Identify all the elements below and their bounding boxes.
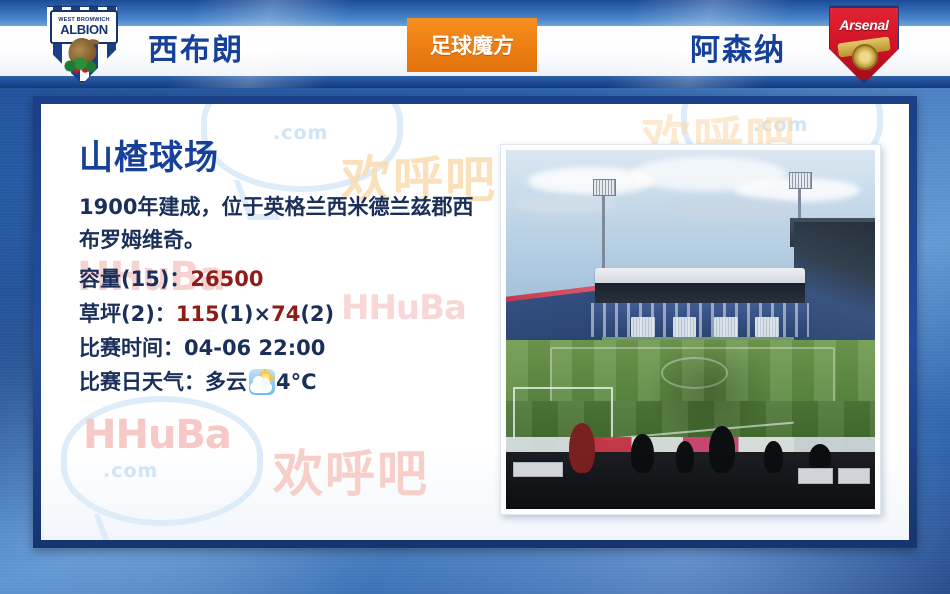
stadium-photo xyxy=(506,150,875,509)
west-bromwich-albion-crest[interactable]: WEST BROMWICH ALBION xyxy=(44,4,126,86)
watermark-brand: HHuBa xyxy=(83,412,231,458)
seat-letter xyxy=(755,317,779,337)
weather-value: 多云 xyxy=(205,365,247,399)
spectator-silhouette xyxy=(631,434,653,473)
match-time-row: 比赛时间： 04-06 22:00 xyxy=(79,331,499,365)
ad-board xyxy=(798,468,833,484)
pitch-size-separator: × xyxy=(253,297,271,331)
spectator-silhouette xyxy=(709,426,735,473)
partly-cloudy-icon xyxy=(249,369,275,395)
seat-letter xyxy=(631,317,655,337)
venue-title: 山楂球场 xyxy=(79,140,499,177)
weather-row: 比赛日天气： 多云 4°C xyxy=(79,365,499,399)
spectator-silhouette xyxy=(676,441,694,473)
pitch-length-rank: (1) xyxy=(220,297,254,331)
cloud-icon xyxy=(250,382,272,393)
temperature-value: 4°C xyxy=(276,365,317,399)
watermark-cn-text: 欢呼吧 xyxy=(273,434,429,506)
ad-board xyxy=(838,468,870,484)
seat-lettering xyxy=(631,317,779,337)
floodlight-head xyxy=(789,172,812,189)
ad-board xyxy=(513,462,563,477)
capacity-value: 26500 xyxy=(190,262,263,296)
floodlight-head xyxy=(593,179,616,196)
main-stand-shade xyxy=(595,283,805,305)
match-time-label: 比赛时间： xyxy=(79,331,184,365)
venue-info-panel: 山楂球场 1900年建成，位于英格兰西米德兰兹郡西布罗姆维奇。 容量(15)： … xyxy=(79,140,499,399)
match-info-stage: WEST BROMWICH ALBION 西布朗 足球魔方 阿森纳 Arsena… xyxy=(0,0,950,594)
watermark-domain: .com xyxy=(103,460,158,482)
spectator-silhouette xyxy=(764,441,782,473)
content-card: .com .com 欢呼吧 HHuBa HHuBa .com HHuBa 欢呼吧… xyxy=(41,104,909,540)
content-card-frame: .com .com 欢呼吧 HHuBa HHuBa .com HHuBa 欢呼吧… xyxy=(33,96,917,548)
crest-word-text: Arsenal xyxy=(826,17,902,33)
pitch-width-rank: (2) xyxy=(300,297,334,331)
watermark-domain: .com xyxy=(753,114,808,136)
site-logo-text: 足球魔方 xyxy=(430,30,514,60)
venue-description: 1900年建成，位于英格兰西米德兰兹郡西布罗姆维奇。 xyxy=(79,191,474,256)
match-time-value: 04-06 22:00 xyxy=(184,331,325,365)
match-header: WEST BROMWICH ALBION 西布朗 足球魔方 阿森纳 Arsena… xyxy=(0,0,950,88)
seat-letter xyxy=(714,317,738,337)
home-team-name: 西布朗 xyxy=(148,26,244,76)
pitch-length-value: 115 xyxy=(176,297,220,331)
arsenal-crest[interactable]: Arsenal xyxy=(826,4,908,86)
crest-main-text: ALBION xyxy=(60,23,107,36)
hawthorn-branch-icon xyxy=(62,58,102,74)
seat-letter xyxy=(673,317,697,337)
weather-label: 比赛日天气： xyxy=(79,365,205,399)
capacity-row: 容量(15)： 26500 xyxy=(79,262,499,296)
away-team-name: 阿森纳 xyxy=(690,26,786,76)
floodlight-pylon xyxy=(602,193,605,276)
pitch-size-row: 草坪(2)： 115 (1) × 74 (2) xyxy=(79,297,499,331)
pitch-label: 草坪(2)： xyxy=(79,297,176,331)
goal-frame xyxy=(513,387,613,439)
capacity-label: 容量(15)： xyxy=(79,262,190,296)
crest-shield-outline xyxy=(826,4,902,84)
watermark-speech-bubble xyxy=(61,396,263,526)
pitch-width-value: 74 xyxy=(271,297,300,331)
cloud xyxy=(668,198,801,219)
site-logo-badge[interactable]: 足球魔方 xyxy=(407,18,537,72)
stadium-photo-frame[interactable] xyxy=(500,144,881,515)
spectator-silhouette xyxy=(569,423,595,473)
